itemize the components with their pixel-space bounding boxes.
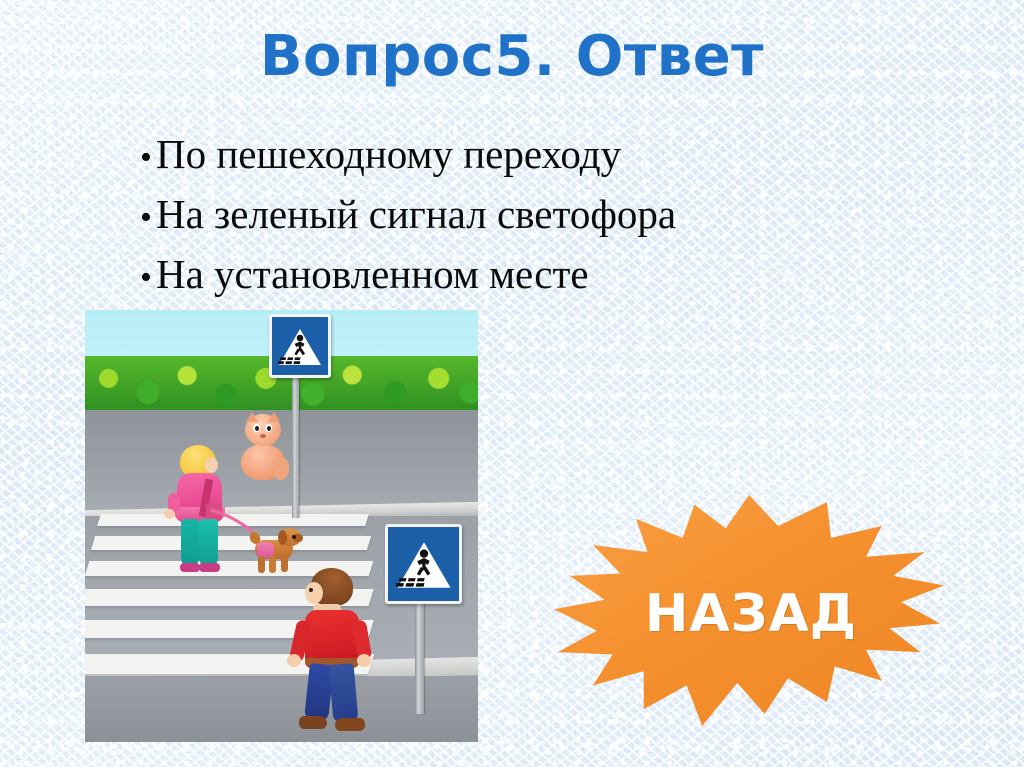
pedestrian-crossing-sign [385, 524, 462, 604]
list-item: • На установленном месте [140, 246, 900, 306]
sign-pole [415, 592, 424, 714]
list-item: • На зеленый сигнал светофора [140, 186, 900, 246]
pedestrian-sign-glyph [396, 541, 452, 589]
bullet-marker-icon: • [140, 189, 156, 246]
page-title: Вопрос5. Ответ [0, 26, 1024, 88]
ginger-cat [235, 410, 291, 482]
pedestrian-crossing-illustration [85, 310, 478, 742]
bullet-marker-icon: • [140, 249, 156, 306]
starburst-shape [554, 495, 944, 733]
list-item: • По пешеходному переходу [140, 126, 900, 186]
pedestrian-sign-glyph [278, 328, 322, 366]
answer-bullet-list: • По пешеходному переходу • На зеленый с… [140, 126, 900, 306]
list-item-label: По пешеходному переходу [156, 126, 621, 183]
slide: Вопрос5. Ответ • По пешеходному переходу… [0, 0, 1024, 767]
boy-in-red-sweater [293, 568, 371, 736]
pedestrian-crossing-sign [269, 314, 331, 378]
bullet-marker-icon: • [140, 129, 156, 186]
sign-pole [292, 366, 299, 518]
list-item-label: На зеленый сигнал светофора [156, 186, 676, 243]
list-item-label: На установленном месте [156, 246, 589, 303]
nazad-button[interactable]: НАЗАД [554, 495, 944, 733]
